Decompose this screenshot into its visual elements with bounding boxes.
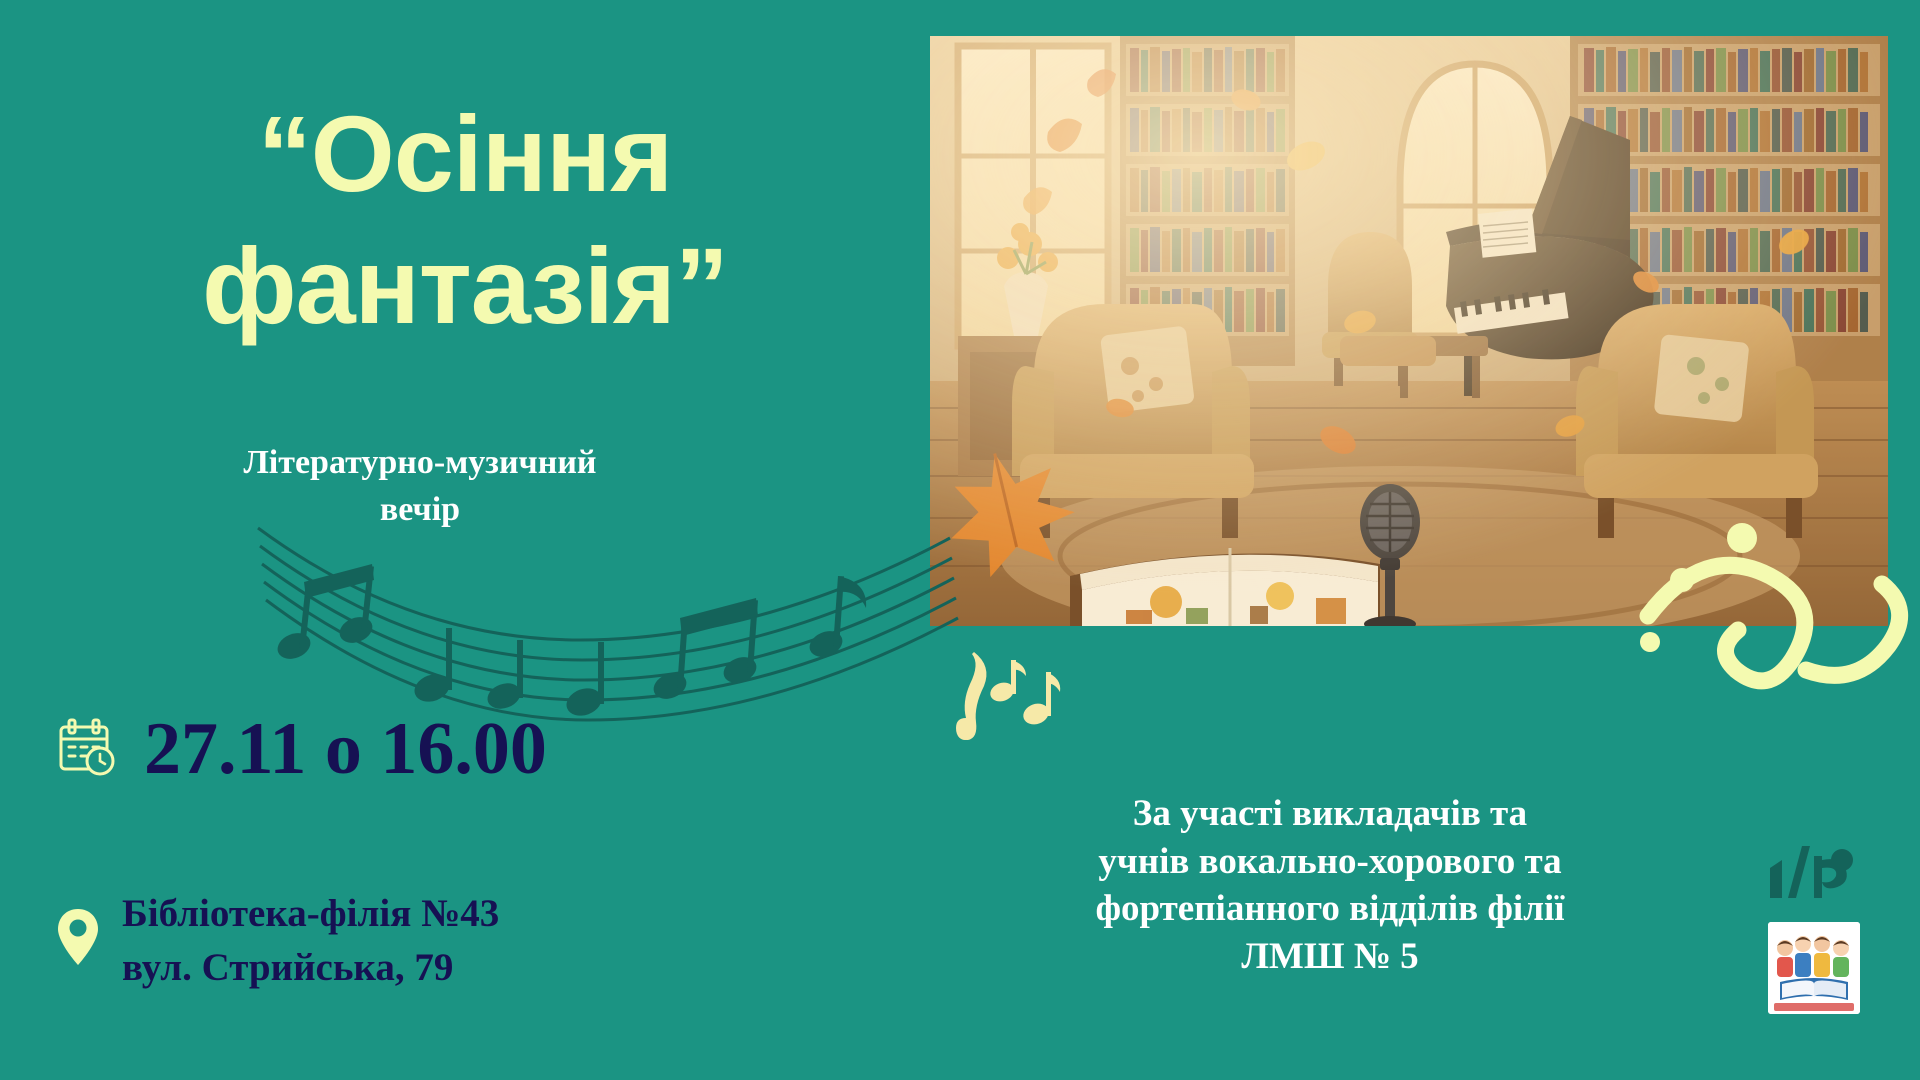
poster-title: “Осіння фантазія”: [0, 88, 930, 352]
poster-subtitle: Літературно-музичний вечір: [140, 440, 700, 534]
credit-line-2: учнів вокально-хорового та: [1030, 838, 1630, 886]
credit-line-1: За участі викладачів та: [1030, 790, 1630, 838]
venue-lines: Бібліотека-філія №43 вул. Стрийська, 79: [122, 890, 499, 991]
event-datetime-row: 27.11 о 16.00: [56, 712, 547, 786]
credit-line-4: ЛМШ № 5: [1030, 933, 1630, 981]
yellow-treble-clef-notes-decor: [940, 640, 1070, 760]
title-line-1: “Осіння: [0, 88, 930, 220]
credit-line-3: фортепіанного відділів філії: [1030, 885, 1630, 933]
music-school-logo: [1762, 838, 1862, 902]
venue-street: вул. Стрийська, 79: [122, 944, 499, 992]
venue-name: Бібліотека-філія №43: [122, 890, 499, 938]
subtitle-line-1: Літературно-музичний: [140, 440, 700, 487]
childrens-library-logo: [1768, 922, 1860, 1014]
venue-block: Бібліотека-філія №43 вул. Стрийська, 79: [56, 890, 499, 991]
title-line-2: фантазія”: [0, 220, 930, 352]
library-interior-photo: [930, 36, 1888, 626]
participants-credit-block: За участі викладачів та учнів вокально-х…: [1030, 790, 1630, 981]
poster-canvas: “Осіння фантазія” Літературно-музичний в…: [0, 0, 1920, 1080]
subtitle-line-2: вечір: [140, 487, 700, 534]
event-datetime-text: 27.11 о 16.00: [144, 712, 547, 786]
location-pin-icon: [56, 907, 100, 974]
calendar-clock-icon: [56, 716, 118, 783]
